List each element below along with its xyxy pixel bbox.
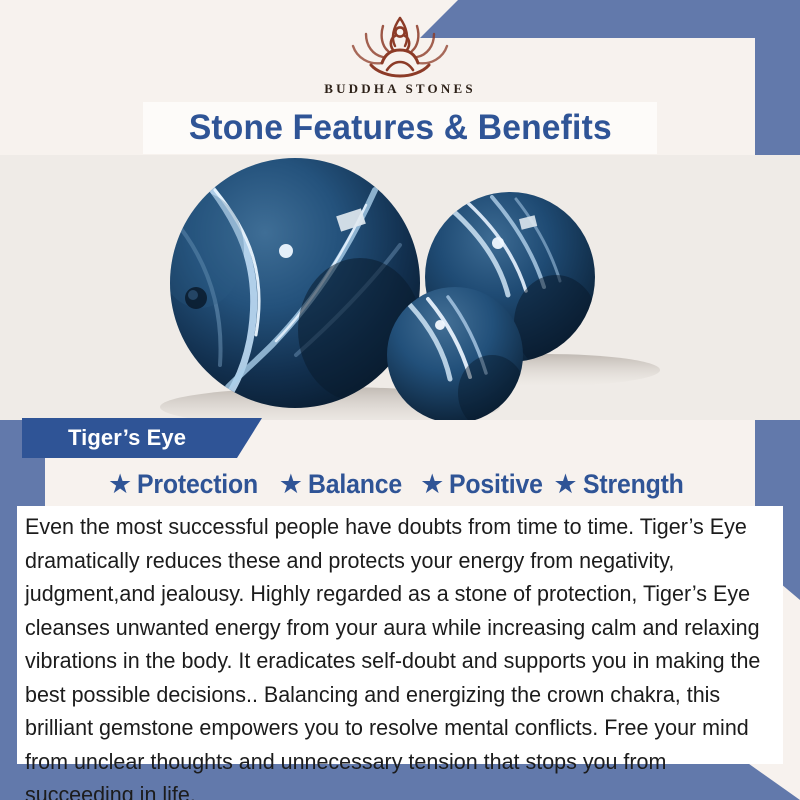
benefit-item-4: ★ Strength — [553, 469, 692, 500]
infographic-page: BUDDHA STONES Stone Features & Benefits — [0, 0, 800, 800]
benefits-row: ★ Protection ★ Balance ★ Positive ★ Stre… — [0, 462, 800, 506]
page-title: Stone Features & Benefits — [188, 108, 611, 148]
page-title-banner: Stone Features & Benefits — [143, 102, 657, 154]
stone-name: Tiger’s Eye — [22, 425, 186, 451]
brand-header: BUDDHA STONES — [0, 0, 800, 108]
benefit-item-1: ★ Protection — [108, 469, 269, 500]
benefit-label-positive: Positive — [449, 469, 543, 500]
stone-name-banner: Tiger’s Eye — [22, 418, 262, 458]
brand-name: BUDDHA STONES — [324, 81, 476, 97]
benefit-label-strength: Strength — [583, 469, 684, 500]
star-icon: ★ — [420, 471, 444, 498]
lotus-meditation-icon — [325, 8, 475, 80]
description-card: Even the most successful people have dou… — [17, 506, 783, 764]
benefit-item-3: ★ Positive — [420, 469, 551, 500]
benefit-label-balance: Balance — [308, 469, 402, 500]
benefit-label-protection: Protection — [137, 469, 258, 500]
stone-spheres-illustration — [0, 155, 800, 420]
description-text: Even the most successful people have dou… — [25, 510, 770, 800]
product-photo — [0, 155, 800, 420]
star-icon: ★ — [279, 471, 303, 498]
star-icon: ★ — [108, 471, 132, 498]
star-icon: ★ — [553, 471, 577, 498]
benefit-item-2: ★ Balance — [279, 469, 410, 500]
